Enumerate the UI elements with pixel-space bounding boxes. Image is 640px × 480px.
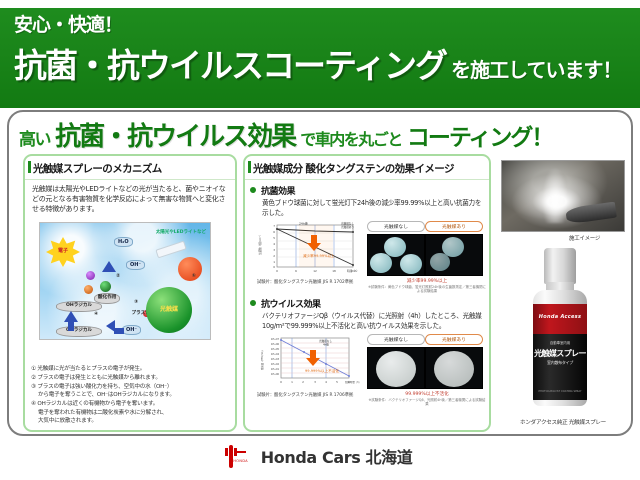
mist-effect (542, 167, 568, 223)
step-number-3: ③ (134, 299, 138, 305)
honda-h-mark (229, 445, 233, 468)
antibacterial-photo-treated-label: 光触媒あり (425, 221, 483, 232)
sub-headline: 高い 抗菌・抗ウイルス効果 で車内を丸ごと コーティング！ (19, 116, 625, 150)
bottle-body: Honda Access 自動車室内用 光触媒スプレー 室内散布タイプ PHOT… (533, 290, 587, 406)
antibacterial-photo-treated: 光触媒あり (425, 221, 483, 276)
petri-dish-treated (425, 234, 483, 276)
antibacterial-photo-note: 減少率99.99%以上 (367, 278, 487, 284)
svg-text:5: 5 (336, 380, 338, 384)
sub-headline-part1: 高い (19, 130, 50, 150)
plaque-field (434, 351, 474, 387)
antibacterial-chart: 減少率99.99%以上 24h後 光触媒なし 光触媒あり 765 432 10 … (255, 221, 363, 285)
colony-blob (370, 253, 392, 273)
antibacterial-photo-fine: ※試験条件：黄色ブドウ球菌、蛍光灯照射24h後の生菌数測定／第三者機関による試験… (367, 285, 487, 294)
antiviral-photo-control: 光触媒なし (367, 334, 425, 389)
svg-text:光触媒なし: 光触媒なし (341, 221, 354, 225)
antiviral-body: バクテリオファージQβ（ウイルス代替）に光照射（4h）したところ、光触媒10g/… (245, 310, 489, 332)
svg-text:0: 0 (280, 380, 282, 384)
electron-dot-orange (84, 285, 93, 294)
led-lamp-icon (155, 241, 186, 259)
effect-panel: 光触媒成分 酸化タングステンの効果イメージ 抗菌効果 黄色ブドウ球菌に対して蛍光… (243, 154, 491, 432)
svg-text:4: 4 (325, 380, 327, 384)
svg-text:7: 7 (273, 224, 275, 228)
sun-label: 電子 (46, 247, 80, 254)
antibacterial-heading: 抗菌効果 (245, 184, 489, 197)
h2o-bubble: H₂O (114, 237, 133, 247)
electron-dot-green (100, 281, 111, 292)
spray-application-photo (501, 160, 625, 232)
svg-text:感染価（PFU/mL）: 感染価（PFU/mL） (260, 349, 264, 370)
svg-text:光触媒あり: 光触媒あり (341, 225, 354, 229)
svg-text:4h後: 4h後 (323, 342, 329, 346)
honda-logo-icon: HONDA (228, 447, 250, 466)
svg-text:1E+07: 1E+07 (271, 338, 280, 341)
antibacterial-chart-svg: 減少率99.99%以上 24h後 光触媒なし 光触媒あり 765 432 10 … (255, 221, 363, 281)
antiviral-photo-note: 99.999%以上不活化 (367, 391, 487, 397)
plaque-field (376, 351, 416, 387)
antibacterial-body: 黄色ブドウ球菌に対して蛍光灯下24h後の減少率99.99%以上と高い抗菌力を示し… (245, 197, 489, 219)
mechanism-note-4: から電子を奪うことで、OH⁻はOHラジカルになります。 (31, 391, 230, 400)
antiviral-chart: 99.999%以上不活化 光触媒なし 4h後 1E+071E+061E+05 1… (255, 334, 363, 398)
svg-text:1E+02: 1E+02 (271, 363, 280, 366)
arrow-up-head (64, 311, 78, 322)
effect-panel-title: 光触媒成分 酸化タングステンの効果イメージ (245, 156, 489, 180)
bottle-brand: Honda Access (533, 314, 587, 320)
arrow-up-head-2 (102, 261, 116, 272)
mechanism-description: 光触媒は太陽光やLEDライトなどの光が当たると、菌やニオイなどの元となる有害物質… (25, 180, 235, 216)
colony-blob (400, 254, 422, 274)
honda-logo-word: HONDA (233, 459, 248, 463)
oh-radical-label: OHラジカル (56, 301, 102, 312)
sub-headline-part3: で車内を丸ごと (300, 130, 402, 149)
mechanism-notes: ① 光触媒に光が当たるとプラスの電子が発生。 ② プラスの電子は発生とともに光触… (31, 365, 230, 426)
antiviral-chart-caption: 試験片：酸化タングステン光触媒 JIS R 1706準拠 (257, 392, 353, 398)
mechanism-note-5: ④ OHラジカルは近くの有機物から電子を奪います。 (31, 400, 230, 409)
svg-text:1E+05: 1E+05 (271, 348, 280, 351)
svg-text:4: 4 (273, 242, 275, 246)
svg-text:2: 2 (273, 254, 275, 258)
antiviral-photos: 光触媒なし 光触媒あり 99.999%以上不活化 ※試験条件：バクテリオファージ… (367, 334, 487, 407)
mechanism-panel: 光触媒スプレーのメカニズム 光触媒は太陽光やLEDライトなどの光が当たると、菌や… (23, 154, 237, 432)
svg-text:99.999%以上不活化: 99.999%以上不活化 (305, 368, 339, 373)
sunlight-source-icon (178, 257, 202, 281)
svg-text:1: 1 (291, 380, 293, 384)
bottle-type: 室内散布タイプ (533, 360, 587, 366)
svg-text:5: 5 (273, 236, 275, 240)
mechanism-note-7: 大気中に放散されます。 (31, 417, 230, 426)
virus-plate-treated (425, 347, 483, 389)
svg-text:光触媒なし: 光触媒なし (319, 339, 332, 343)
antiviral-photo-treated: 光触媒あり (425, 334, 483, 389)
top-banner: 安心・快適！ 抗菌・抗ウイルスコーティング を施工しています！ (0, 8, 640, 108)
colony-blob (384, 237, 406, 257)
svg-text:照射時間（h）: 照射時間（h） (345, 380, 361, 384)
mechanism-note-2: ② プラスの電子は発生とともに光触媒から離れます。 (31, 374, 230, 383)
svg-text:18: 18 (332, 269, 336, 273)
svg-text:6: 6 (273, 230, 275, 234)
step-number-2: ② (116, 273, 120, 279)
svg-text:1E+00: 1E+00 (271, 373, 280, 376)
mechanism-diagram-image: 電子 太陽光やLEDライトなど H₂O OH⁻ OH⁻ 酸化作用 OHラジカル … (39, 222, 211, 340)
product-bottle: Honda Access 自動車室内用 光触媒スプレー 室内散布タイプ PHOT… (531, 248, 589, 408)
oh-minus-bubble-2: OH⁻ (122, 325, 141, 335)
svg-text:24h後: 24h後 (299, 221, 308, 225)
sun-icon: 電子 (46, 237, 80, 267)
photocatalyst-label: 光触媒 (146, 304, 192, 313)
bottle-sub: 自動車室内用 (533, 340, 587, 345)
svg-text:0: 0 (276, 269, 278, 273)
mechanism-note-1: ① 光触媒に光が当たるとプラスの電子が発生。 (31, 365, 230, 374)
dealer-name: Honda Cars 北海道 (261, 444, 413, 468)
antiviral-heading: 抗ウイルス効果 (245, 297, 489, 310)
svg-text:1E+03: 1E+03 (271, 358, 280, 361)
antiviral-figure-row: 99.999%以上不活化 光触媒なし 4h後 1E+071E+061E+05 1… (245, 334, 489, 406)
led-light-label: 太陽光やLEDライトなど (156, 229, 206, 235)
petri-dish-control (367, 234, 425, 276)
bottle-cap (544, 248, 576, 284)
antibacterial-figure-row: 減少率99.99%以上 24h後 光触媒なし 光触媒あり 765 432 10 … (245, 221, 489, 293)
arrow-left-stem (114, 328, 124, 334)
step-number-4: ④ (94, 311, 98, 317)
antibacterial-photos: 光触媒なし 光触媒あり 減少率99.99%以上 ※試験条件：黄色ブドウ球菌、蛍光… (367, 221, 487, 294)
svg-text:1E+04: 1E+04 (271, 353, 280, 356)
bottle-caption: ホンダアクセス純正 光触媒スプレー (501, 418, 625, 426)
oh-minus-bubble: OH⁻ (126, 260, 145, 270)
mechanism-note-6: 電子を奪われた有機物は二酸化炭素や水に分解され、 (31, 409, 230, 418)
spray-nozzle (565, 202, 617, 225)
footer: HONDA Honda Cars 北海道 (0, 444, 640, 468)
virus-plate-control (367, 347, 425, 389)
svg-text:減少率99.99%以上: 減少率99.99%以上 (303, 253, 335, 258)
svg-text:3: 3 (273, 248, 275, 252)
svg-text:0: 0 (273, 265, 275, 269)
banner-headline-main: 抗菌・抗ウイルスコーティング (14, 46, 446, 85)
svg-text:1E+01: 1E+01 (271, 368, 280, 371)
antibacterial-photo-control: 光触媒なし (367, 221, 425, 276)
antibacterial-photo-control-label: 光触媒なし (367, 221, 425, 232)
sub-headline-part2: 抗菌・抗ウイルス効果 (55, 122, 295, 150)
svg-text:12: 12 (313, 269, 317, 273)
step-number-1: ① (192, 273, 196, 279)
antiviral-photo-treated-label: 光触媒あり (425, 334, 483, 345)
svg-text:1: 1 (273, 260, 275, 264)
content-card: 高い 抗菌・抗ウイルス効果 で車内を丸ごと コーティング！ 光触媒スプレーのメカ… (7, 110, 633, 436)
svg-text:6: 6 (295, 269, 297, 273)
svg-text:1E+06: 1E+06 (271, 343, 280, 346)
svg-text:時間（h）: 時間（h） (347, 269, 359, 273)
banner-headline: 抗菌・抗ウイルスコーティング を施工しています！ (14, 39, 640, 87)
arrow-up-stem (68, 321, 74, 331)
bottle-name: 光触媒スプレー (533, 348, 587, 359)
antibacterial-chart-caption: 試験片：酸化タングステン光触媒 JIS R 1702準拠 (257, 279, 353, 285)
colony-blob (430, 253, 450, 271)
bottle-fine: PHOTOCATALYST COATING SPRAY (533, 390, 587, 393)
photocatalyst-sphere: 光触媒 (146, 287, 192, 333)
mechanism-note-3: ③ プラスの電子は強い酸化力を持ち、空気中の水（OH⁻） (31, 383, 230, 392)
sub-headline-part4: コーティング！ (407, 125, 553, 150)
svg-text:生菌数（個/cm²）: 生菌数（個/cm²） (258, 233, 262, 254)
antiviral-photo-control-label: 光触媒なし (367, 334, 425, 345)
oh-radical-label-2: OHラジカル (56, 326, 102, 337)
product-bottle-figure: Honda Access 自動車室内用 光触媒スプレー 室内散布タイプ PHOT… (501, 244, 625, 430)
svg-text:2: 2 (302, 380, 304, 384)
mechanism-panel-title: 光触媒スプレーのメカニズム (25, 156, 235, 180)
banner-headline-tail: を施工しています！ (451, 58, 621, 82)
electron-dot-purple (86, 271, 95, 280)
svg-text:3: 3 (314, 380, 316, 384)
banner-kicker: 安心・快適！ (14, 16, 640, 36)
antiviral-chart-svg: 99.999%以上不活化 光触媒なし 4h後 1E+071E+061E+05 1… (255, 334, 363, 394)
spray-photo-caption: 施工イメージ (569, 234, 600, 242)
antiviral-photo-fine: ※試験条件：バクテリオファージQβ、光照射4h後／第三者機関による試験結果 (367, 398, 487, 407)
